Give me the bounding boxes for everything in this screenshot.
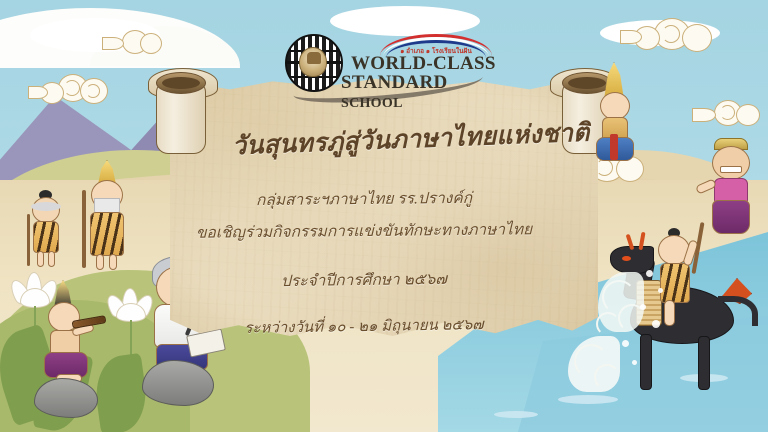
hermit-small-staff bbox=[27, 214, 30, 266]
giantess-head bbox=[712, 146, 750, 180]
wave-cluster-2 bbox=[560, 330, 710, 420]
hermit-elder-staff bbox=[82, 190, 86, 268]
banner-line-4: ระหว่างวันที่ ๑๐ - ๒๑ มิถุนายน ๒๕๖๗ bbox=[162, 311, 566, 341]
thai-cloud-small-left bbox=[100, 30, 170, 56]
logo-word-class: CLASS bbox=[433, 53, 496, 74]
thai-cloud-top-right bbox=[620, 18, 730, 54]
scroll-roll-left bbox=[150, 66, 212, 162]
hermit-small-left bbox=[26, 190, 72, 268]
banner-line-2: ขอเชิญร่วมกิจกรรมการแข่งขันทักษะทางภาษาไ… bbox=[162, 216, 566, 245]
hermit-elder-leg-l bbox=[96, 254, 104, 270]
water-foam-3 bbox=[494, 411, 538, 418]
banner-line-3: ประจำปีการศึกษา ๒๕๖๗ bbox=[162, 264, 566, 295]
logo-word-school: SCHOOL bbox=[341, 96, 403, 111]
giantess-fangs bbox=[720, 166, 742, 173]
logo-wordmark: WORLD-CLASS STANDARD SCHOOL bbox=[351, 54, 501, 111]
thai-prince-cloud bbox=[586, 62, 644, 172]
prince-sash bbox=[610, 134, 618, 160]
prince-head bbox=[600, 92, 630, 120]
hermit-small-leg-r bbox=[48, 251, 55, 267]
thai-cloud-mid-right bbox=[690, 100, 768, 130]
banner-body: กลุ่มสาระฯภาษาไทย รร.ปรางค์กู่ ขอเชิญร่ว… bbox=[162, 186, 566, 338]
logo-word-world: WORLD bbox=[351, 53, 426, 74]
hermit-elder-leg-r bbox=[109, 254, 117, 270]
hermit-elder-left bbox=[78, 160, 136, 270]
royal-garuda-emblem-icon bbox=[299, 47, 327, 77]
hermit-small-leg-l bbox=[37, 251, 44, 267]
hermit-elder-robe bbox=[90, 212, 124, 256]
hermit-small-robe bbox=[33, 221, 59, 253]
thai-cloud-left bbox=[28, 72, 124, 106]
logo-word-standard: STANDARD bbox=[341, 72, 448, 93]
banner-line-1: กลุ่มสาระฯภาษาไทย รร.ปรางค์กู่ bbox=[162, 184, 566, 213]
world-class-standard-school-logo: ๑ อำเภอ ๑ โรงเรียนในฝัน WORLD-CLASS STAN… bbox=[285, 32, 500, 94]
poster-canvas: วันสุนทรภู่สู่วันภาษาไทยแห่งชาติ กลุ่มสา… bbox=[0, 0, 768, 432]
